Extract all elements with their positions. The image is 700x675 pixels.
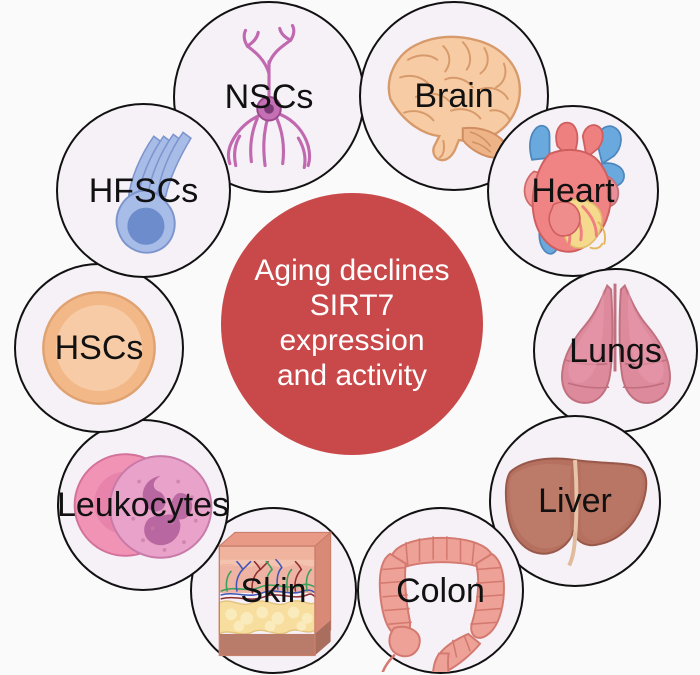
heart-organ-icon bbox=[489, 107, 657, 275]
figure-canvas: NSCs bbox=[0, 0, 700, 675]
node-leukocytes[interactable]: Leukocytes bbox=[57, 419, 229, 591]
stem-cell-icon bbox=[16, 265, 182, 431]
node-colon[interactable]: Colon bbox=[357, 507, 524, 674]
node-heart[interactable]: Heart bbox=[487, 105, 659, 277]
follicle-cell-icon bbox=[58, 105, 229, 276]
center-circle[interactable]: Aging declines SIRT7 expression and acti… bbox=[221, 193, 483, 455]
node-hscs[interactable]: HSCs bbox=[14, 263, 184, 433]
lungs-icon bbox=[535, 270, 696, 431]
center-label: Aging declines SIRT7 expression and acti… bbox=[254, 254, 449, 393]
colon-icon bbox=[359, 509, 522, 672]
node-lungs[interactable]: Lungs bbox=[533, 268, 698, 433]
leukocyte-icon bbox=[59, 421, 227, 589]
node-hfscs[interactable]: HFSCs bbox=[56, 103, 231, 278]
